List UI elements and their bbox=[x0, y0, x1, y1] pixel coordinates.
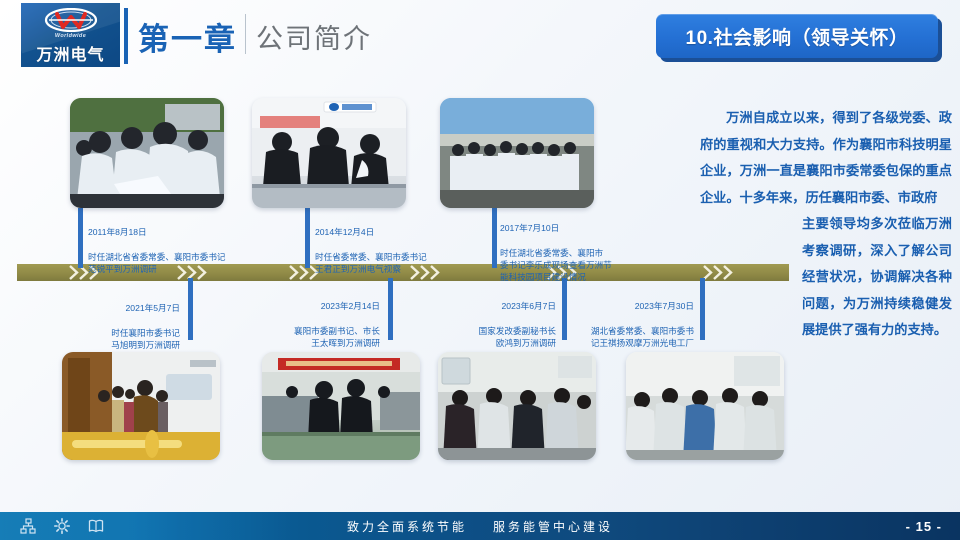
event-date: 2011年8月18日 bbox=[88, 226, 268, 238]
event-photo bbox=[438, 352, 596, 460]
timeline-tick bbox=[188, 278, 193, 340]
header-divider bbox=[124, 8, 128, 64]
event-date: 2023年6月7日 bbox=[416, 300, 556, 312]
page-number: - 15 - bbox=[906, 512, 942, 540]
photo-figures bbox=[62, 352, 220, 460]
event-date: 2023年7月30日 bbox=[566, 300, 694, 312]
paragraph-main: 万洲自成立以来，得到了各级党委、政府的重视和大力支持。作为襄阳市科技明星企业，万… bbox=[700, 110, 952, 205]
event-date: 2017年7月10日 bbox=[500, 222, 665, 234]
event-caption: 2023年2月14日 襄阳市委副书记、市长 王太晖到万洲调研 bbox=[238, 288, 380, 361]
event-caption: 2017年7月10日 时任湖北省委常委、襄阳市 委书记李乐成现场查看万洲节 能科… bbox=[500, 210, 665, 295]
event-text: 湖北省委常委、襄阳市委书 记王祺扬观摩万洲光电工厂 bbox=[566, 325, 694, 349]
event-date: 2014年12月4日 bbox=[315, 226, 495, 238]
photo-figures bbox=[438, 352, 596, 460]
footer-slogan-right: 服务能管中心建设 bbox=[493, 518, 613, 535]
event-photo bbox=[626, 352, 784, 460]
event-text: 时任襄阳市委书记 马旭明到万洲调研 bbox=[30, 327, 180, 351]
event-text: 时任省委常委、襄阳市委书记 王君正到万洲电气视察 bbox=[315, 251, 495, 275]
logo-company-name: 万洲电气 bbox=[21, 41, 120, 65]
paragraph-tail: 主要领导均多次莅临万洲考察调研，深入了解公司经营状况，协调解决各种问题，为万洲持… bbox=[802, 211, 952, 344]
event-text: 襄阳市委副书记、市长 王太晖到万洲调研 bbox=[238, 325, 380, 349]
event-photo bbox=[70, 98, 224, 208]
event-text: 时任湖北省省委常委、襄阳市委书记 范锐平到万洲调研 bbox=[88, 251, 268, 275]
event-photo bbox=[440, 98, 594, 208]
section-title-badge-wrap: 10.社会影响（领导关怀） bbox=[656, 14, 938, 58]
photo-figures bbox=[262, 352, 420, 460]
slide-footer: 致力全面系统节能 服务能管中心建设 - 15 - bbox=[0, 512, 960, 540]
photo-figures bbox=[70, 98, 224, 208]
event-text: 国家发改委副秘书长 欧鸿到万洲调研 bbox=[416, 325, 556, 349]
chapter-separator bbox=[245, 14, 246, 54]
photo-figures bbox=[252, 98, 406, 208]
photo-figures bbox=[626, 352, 784, 460]
slide-canvas: Worldwide 万洲电气 第一章 公司简介 10.社会影响（领导关怀） bbox=[0, 0, 960, 540]
event-photo bbox=[262, 352, 420, 460]
chapter-title: 第一章 bbox=[138, 14, 237, 59]
timeline-tick bbox=[388, 278, 393, 340]
chevron-icon bbox=[289, 265, 299, 280]
photo-figures bbox=[440, 98, 594, 208]
slide-header: Worldwide 万洲电气 第一章 公司简介 10.社会影响（领导关怀） bbox=[0, 0, 960, 78]
event-photo bbox=[62, 352, 220, 460]
section-title-badge: 10.社会影响（领导关怀） bbox=[656, 14, 938, 58]
event-caption: 2014年12月4日 时任省委常委、襄阳市委书记 王君正到万洲电气视察 bbox=[315, 214, 495, 287]
w-oval-logo-icon bbox=[43, 8, 99, 32]
event-caption: 2023年7月30日 湖北省委常委、襄阳市委书 记王祺扬观摩万洲光电工厂 bbox=[566, 288, 694, 361]
event-photo bbox=[252, 98, 406, 208]
event-caption: 2011年8月18日 时任湖北省省委常委、襄阳市委书记 范锐平到万洲调研 bbox=[88, 214, 268, 287]
event-date: 2023年2月14日 bbox=[238, 300, 380, 312]
summary-paragraph: 万洲自成立以来，得到了各级党委、政府的重视和大力支持。作为襄阳市科技明星企业，万… bbox=[700, 105, 952, 344]
event-text: 时任湖北省委常委、襄阳市 委书记李乐成现场查看万洲节 能科技园项目建设情况 bbox=[500, 247, 665, 284]
footer-slogan-left: 致力全面系统节能 bbox=[347, 518, 467, 535]
timeline-tick bbox=[78, 208, 83, 268]
company-logo: Worldwide 万洲电气 bbox=[21, 3, 120, 67]
timeline-tick bbox=[305, 208, 310, 268]
event-date: 2021年5月7日 bbox=[30, 302, 180, 314]
footer-slogans: 致力全面系统节能 服务能管中心建设 bbox=[0, 512, 960, 540]
chapter-subtitle: 公司简介 bbox=[256, 17, 372, 56]
section-title-text: 10.社会影响（领导关怀） bbox=[686, 23, 909, 50]
event-caption: 2023年6月7日 国家发改委副秘书长 欧鸿到万洲调研 bbox=[416, 288, 556, 361]
logo-subtitle: Worldwide bbox=[21, 33, 120, 39]
